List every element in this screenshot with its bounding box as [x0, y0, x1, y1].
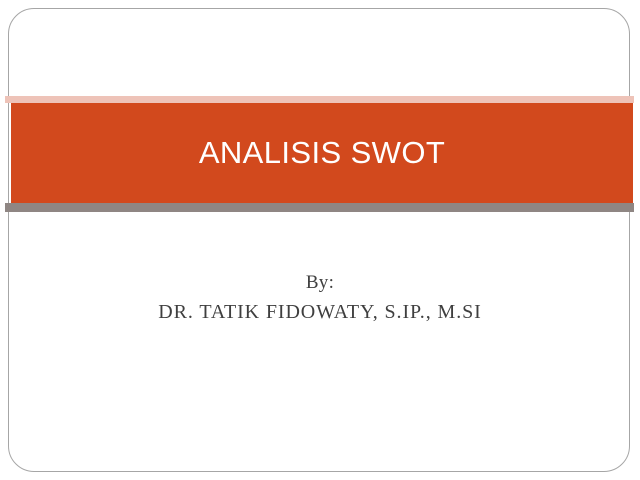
title-band-fill: ANALISIS SWOT — [11, 103, 633, 203]
title-band: ANALISIS SWOT — [0, 96, 640, 212]
page-title: ANALISIS SWOT — [11, 103, 633, 203]
subtitle-author-name: DR. TATIK FIDOWATY, S.IP., M.SI — [11, 297, 629, 327]
title-band-accent-top — [5, 96, 634, 103]
subtitle-block: By: DR. TATIK FIDOWATY, S.IP., M.SI — [11, 268, 629, 327]
slide-frame — [8, 8, 630, 472]
slide-root: ANALISIS SWOT By: DR. TATIK FIDOWATY, S.… — [0, 0, 640, 480]
subtitle-by-label: By: — [11, 268, 629, 297]
title-band-accent-bottom — [5, 203, 634, 212]
